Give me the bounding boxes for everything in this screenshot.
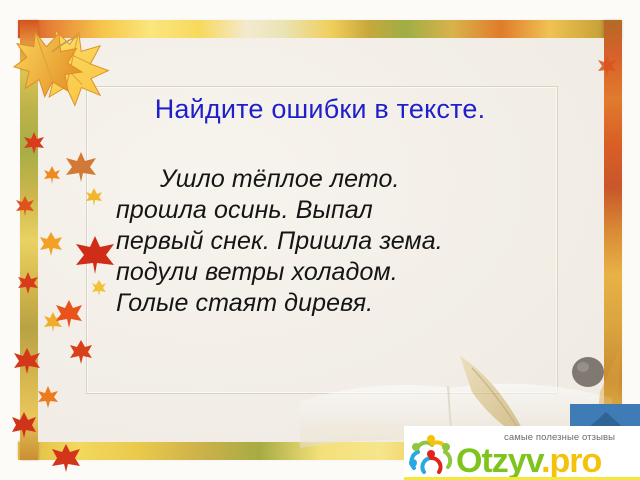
body-line: первый снек. Пришла зема. (116, 226, 516, 257)
leaf-icon-small (92, 280, 106, 296)
leaf-icon-small (56, 300, 82, 328)
leaf-icon-small (16, 196, 34, 216)
watermark-brand-second: .pro (541, 442, 601, 480)
presentation-slide: Найдите ошибки в тексте. Ушло тёплое лет… (0, 0, 640, 480)
leaf-icon-small (44, 166, 60, 184)
leaf-icon-small (598, 56, 616, 76)
leaf-icon-small (12, 412, 36, 438)
leaf-icon-small (14, 348, 40, 374)
leaf-icon-small (40, 232, 62, 256)
body-line: прошла осинь. Выпал (116, 195, 516, 226)
slide-body-text: Ушло тёплое лето. прошла осинь. Выпал пе… (116, 164, 516, 319)
leaf-icon-small (66, 152, 96, 182)
leaf-icon-small (86, 188, 102, 206)
page-title: Найдите ошибки в тексте. (0, 94, 640, 125)
leaf-icon-small (70, 340, 92, 364)
body-line: Ушло тёплое лето. (116, 164, 516, 195)
leaf-icon-small (18, 272, 38, 294)
leaf-icon-small (52, 444, 80, 472)
leaf-icon-small (76, 236, 114, 274)
watermark-brand: Otzyv.pro (456, 444, 601, 478)
body-line: подули ветры холадом. (116, 257, 516, 288)
watermark-brand-first: Otzyv (456, 442, 541, 480)
leaf-icon-small (24, 132, 44, 154)
people-group-icon (408, 434, 454, 474)
leaf-icon-small (38, 386, 58, 408)
body-line: Голые стаят диревя. (116, 288, 516, 319)
